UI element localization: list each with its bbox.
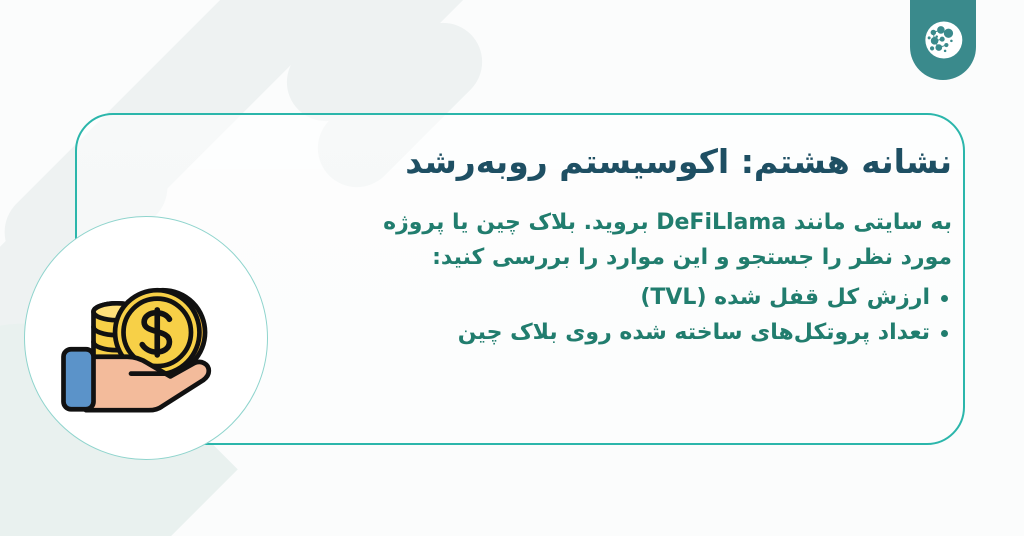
hand-holding-coins-icon (51, 263, 241, 413)
illustration-circle (24, 216, 268, 460)
list-item: ارزش کل قفل شده (TVL) (332, 280, 952, 316)
body-paragraph: به سایتی مانند DeFiLlama بروید. بلاک چین… (332, 205, 952, 276)
checklist: ارزش کل قفل شده (TVL) تعداد پروتکل‌های س… (332, 280, 952, 351)
list-item: تعداد پروتکل‌های ساخته شده روی بلاک چین (332, 315, 952, 351)
card-text-content: نشانه هشتم: اکوسیستم روبه‌رشد به سایتی م… (332, 140, 952, 351)
network-nodes-logo-icon (922, 19, 964, 61)
page-title: نشانه هشتم: اکوسیستم روبه‌رشد (332, 140, 952, 185)
brand-logo-badge (910, 0, 976, 80)
